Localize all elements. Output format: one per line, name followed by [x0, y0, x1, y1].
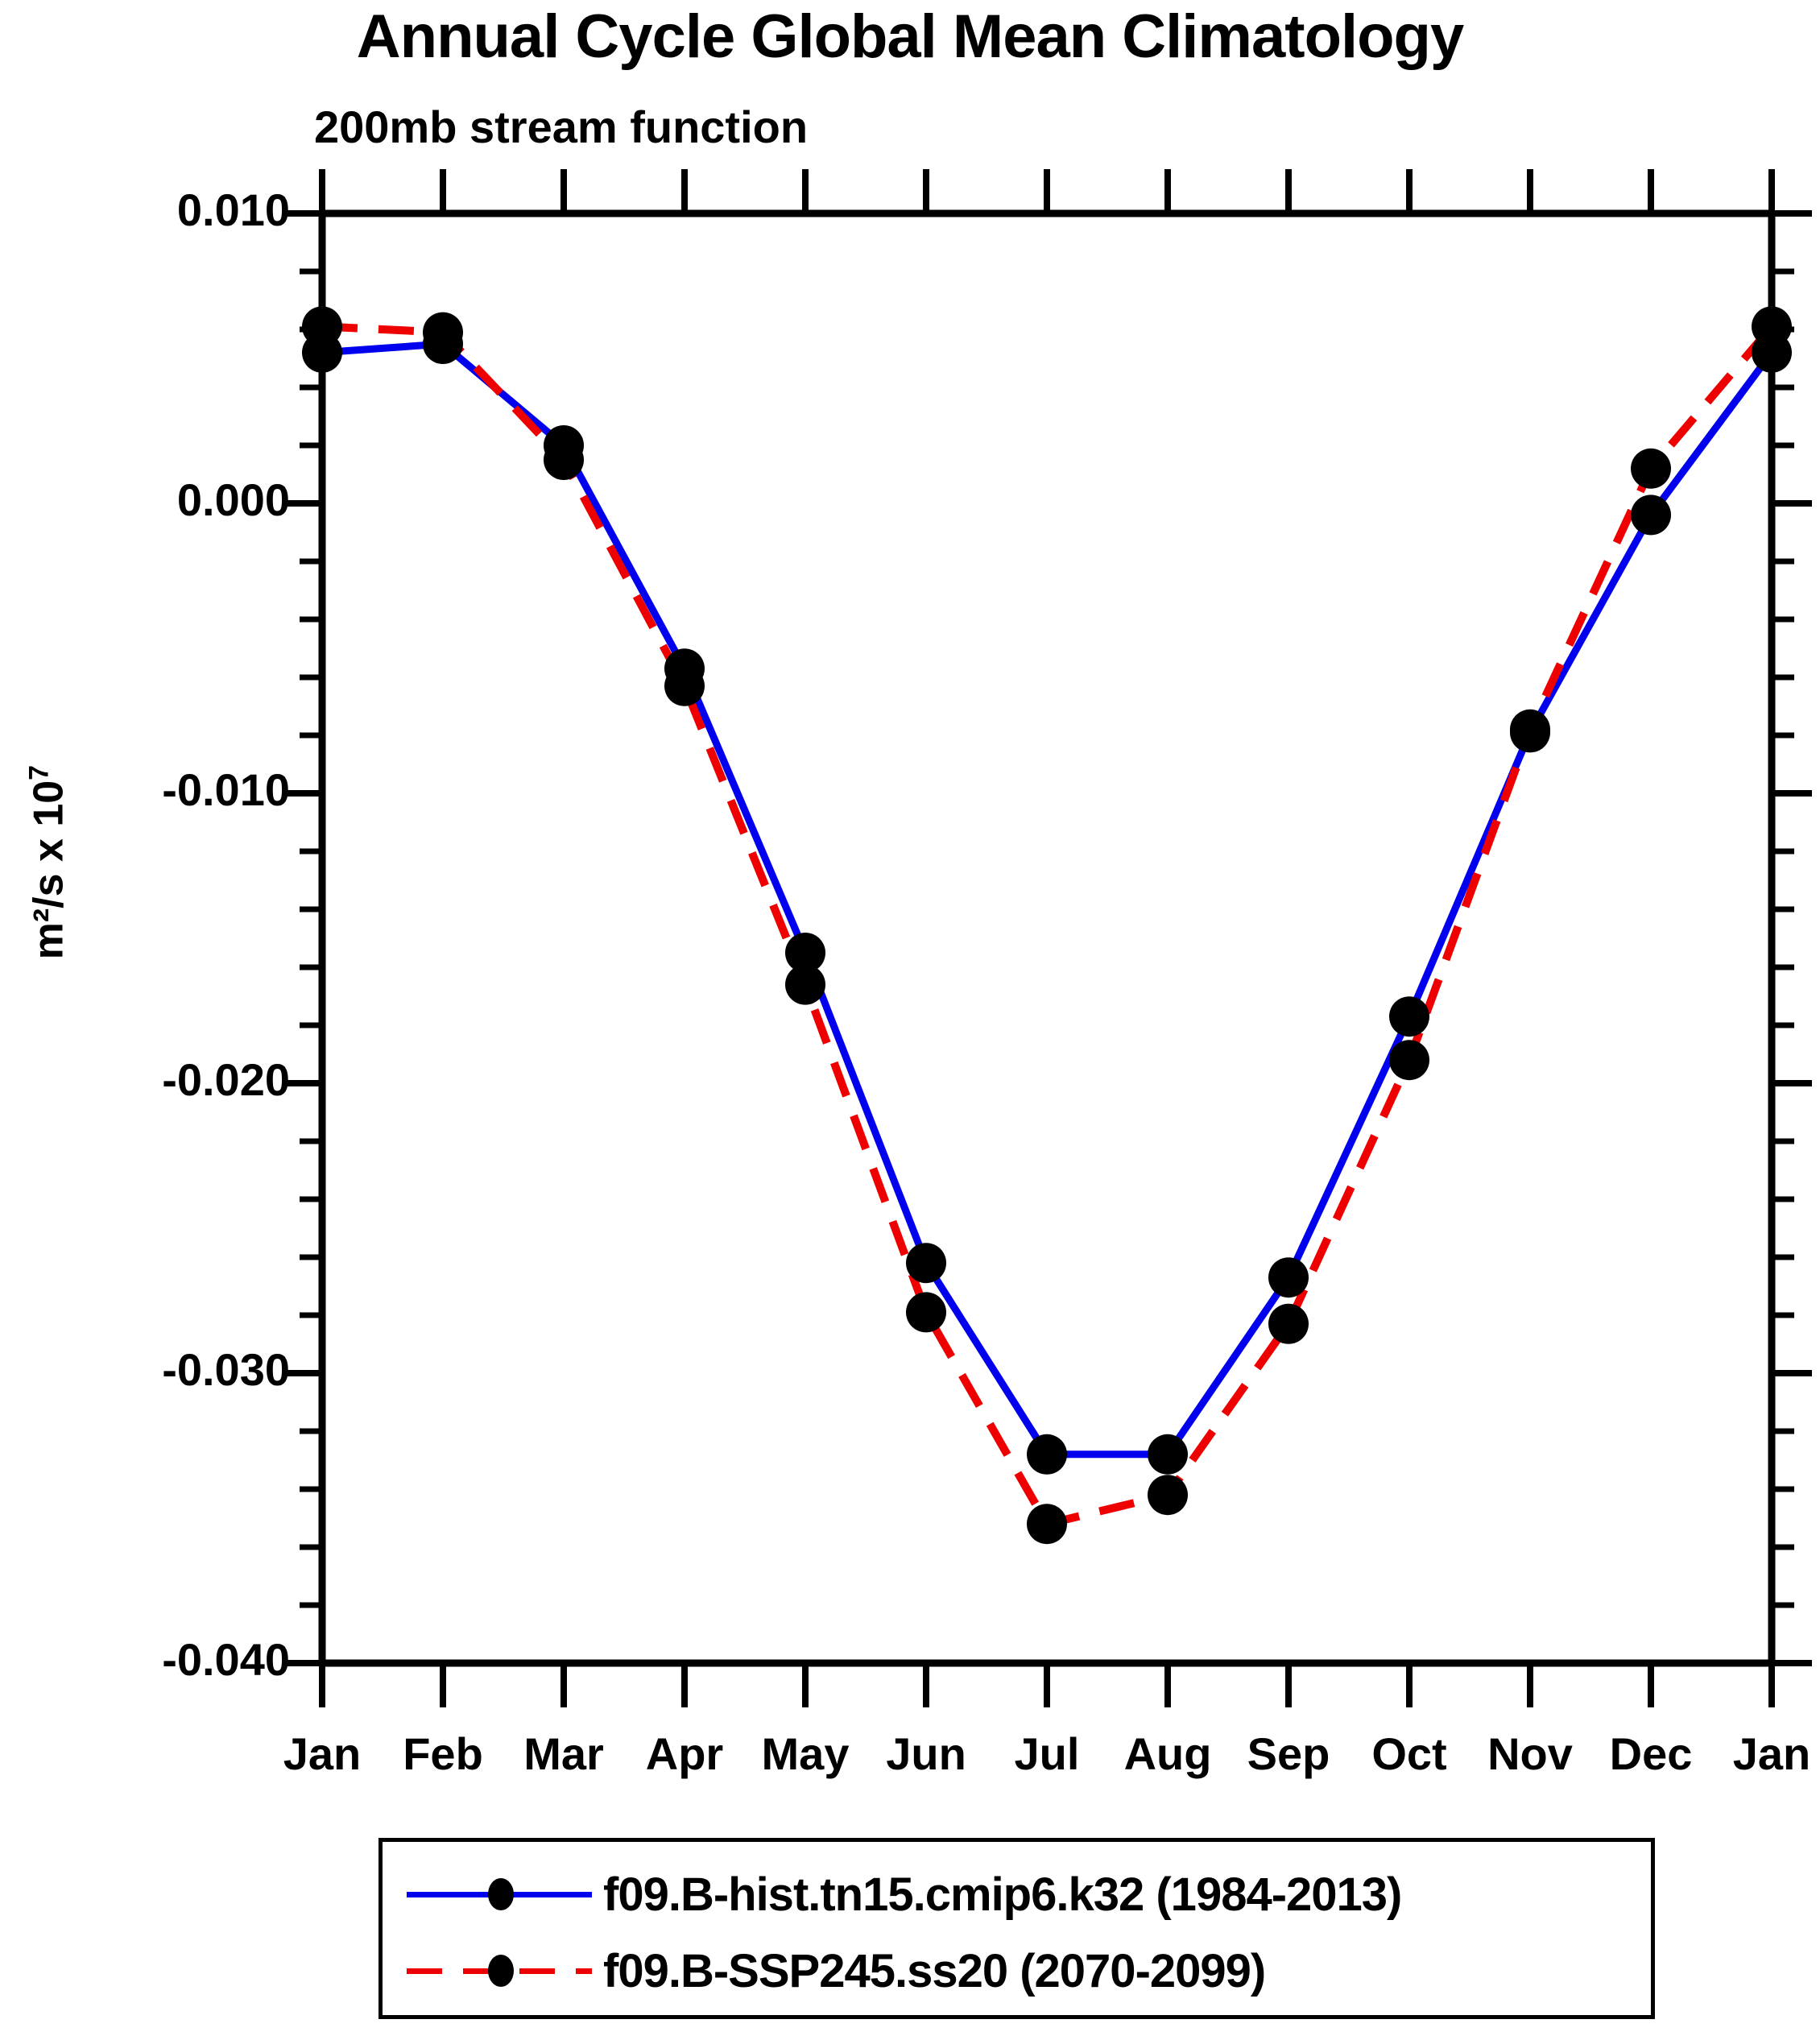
y-tick-label: 0.000: [48, 478, 290, 523]
data-point: [1389, 1040, 1429, 1080]
data-point: [1027, 1434, 1067, 1475]
series-line-1: [322, 326, 1772, 1524]
legend-label-0: f09.B-hist.tn15.cmip6.k32 (1984-2013): [603, 1868, 1401, 1922]
data-point: [1631, 449, 1671, 489]
data-point: [785, 965, 825, 1005]
data-point: [1027, 1504, 1067, 1544]
legend: f09.B-hist.tn15.cmip6.k32 (1984-2013) f0…: [378, 1838, 1655, 2019]
data-point: [1389, 996, 1429, 1037]
legend-entry-0: f09.B-hist.tn15.cmip6.k32 (1984-2013): [383, 1862, 1401, 1926]
data-point: [1148, 1475, 1188, 1515]
legend-entry-1: f09.B-SSP245.ss20 (2070-2099): [383, 1939, 1265, 2003]
y-tick-label: -0.030: [48, 1347, 290, 1393]
chart-figure: Annual Cycle Global Mean Climatology 200…: [0, 0, 1820, 2036]
data-point: [906, 1243, 946, 1283]
legend-swatch-line-1: [407, 1955, 592, 1987]
data-point: [906, 1292, 946, 1332]
data-point: [544, 440, 584, 480]
data-point: [1148, 1434, 1188, 1475]
data-point: [1510, 710, 1550, 750]
y-tick-label: 0.010: [48, 188, 290, 233]
legend-marker-0: [488, 1878, 514, 1910]
y-tick-label: -0.020: [48, 1057, 290, 1103]
legend-label-1: f09.B-SSP245.ss20 (2070-2099): [603, 1944, 1265, 1998]
y-tick-label: -0.010: [48, 768, 290, 813]
data-point: [1268, 1257, 1309, 1297]
y-tick-label: -0.040: [48, 1637, 290, 1682]
legend-swatch-line-0: [407, 1878, 592, 1910]
legend-marker-1: [488, 1955, 514, 1987]
data-point: [1631, 495, 1671, 535]
data-point: [1752, 306, 1792, 346]
data-point: [423, 312, 463, 353]
data-point: [302, 306, 342, 346]
data-point: [664, 666, 705, 706]
series-line-0: [322, 344, 1772, 1455]
data-point: [1268, 1304, 1309, 1344]
x-tick-label: Jan: [1691, 1732, 1820, 1777]
